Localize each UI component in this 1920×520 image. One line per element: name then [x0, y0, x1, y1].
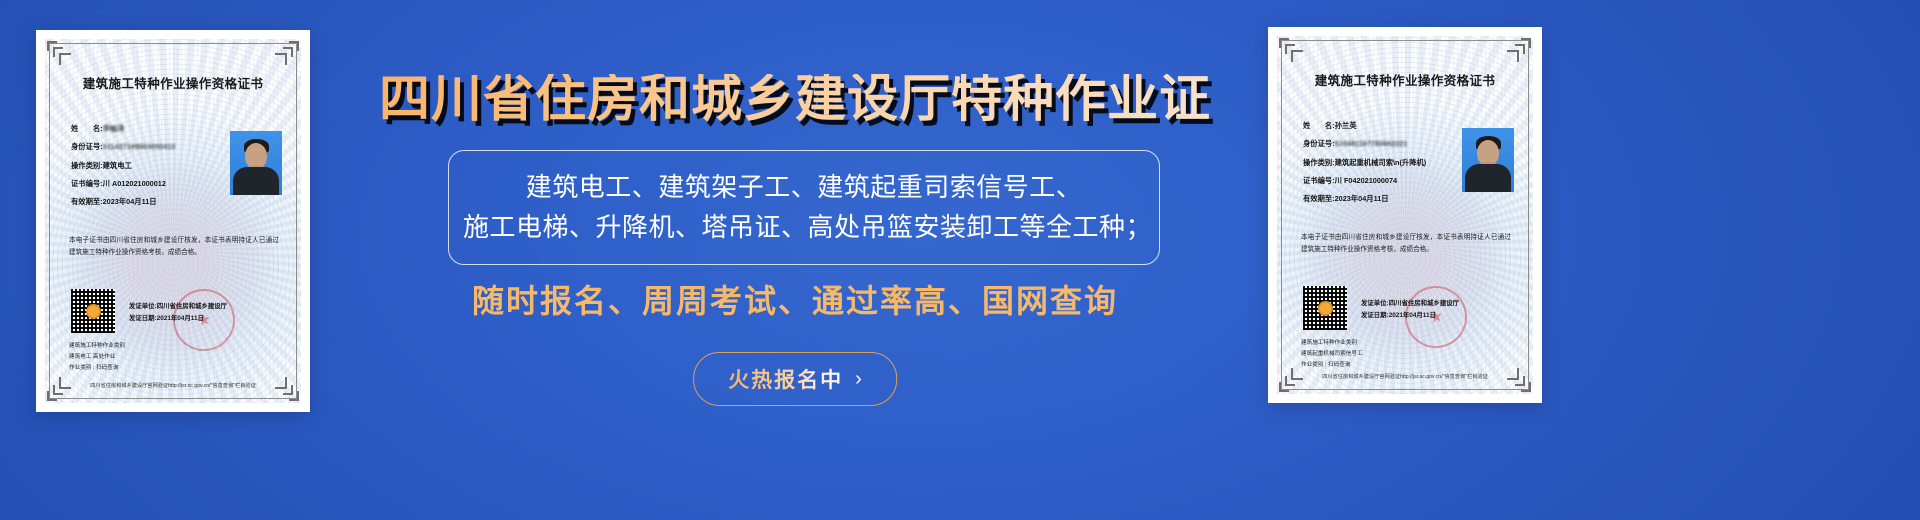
- certificate-field-row: 身份证号: 510481197780662221: [1303, 140, 1455, 147]
- certificate-paragraph: 本电子证书由四川省住房和城乡建设厅核发，本证书表明持证人已通过建筑施工特种作业操…: [69, 235, 279, 259]
- issue-date-label: 发证日期:: [1361, 312, 1389, 319]
- certificate-paragraph: 本电子证书由四川省住房和城乡建设厅核发，本证书表明持证人已通过建筑施工特种作业操…: [1301, 232, 1511, 256]
- field-label: 有效期至:: [1303, 195, 1335, 202]
- certificate-issue-info: 发证单位:四川省住房和城乡建设厅 发证日期:2021年04月11日: [1361, 298, 1481, 322]
- field-label: 操作类别:: [1303, 159, 1335, 166]
- chevron-right-icon: ›: [855, 369, 862, 389]
- certificate-card-right: 建筑施工特种作业操作资格证书 姓 名: 孙兰英 身份证号: 5104811977…: [1268, 27, 1542, 403]
- issue-date-line: 发证日期:2021年04月11日: [1361, 310, 1481, 322]
- scope-box: 建筑电工、建筑架子工、建筑起重司索信号工、 施工电梯、升降机、塔吊证、高处吊篮安…: [448, 150, 1160, 265]
- field-label: 身份证号:: [71, 143, 103, 150]
- field-label: 身份证号:: [1303, 140, 1335, 147]
- field-label: 姓 名:: [71, 125, 103, 132]
- certificate-photo: [230, 131, 282, 195]
- field-value: 2023年04月11日: [103, 198, 157, 205]
- certificate-field-row: 有效期至: 2023年04月11日: [71, 198, 223, 205]
- footer-line: 作业类别 : 扫码查询: [69, 363, 219, 374]
- certificate-photo: [1462, 128, 1514, 192]
- field-label: 证书编号:: [1303, 177, 1335, 184]
- photo-body: [1465, 164, 1511, 192]
- certificate-fields: 姓 名: 孙兰英 身份证号: 510481197780662221 操作类别: …: [1303, 122, 1455, 213]
- field-value: 建筑电工: [103, 162, 132, 169]
- issue-date-line: 发证日期:2021年04月11日: [129, 313, 249, 325]
- issue-date-value: 2021年04月11日: [157, 315, 204, 322]
- footer-line: 建筑起重机械司索信号工: [1301, 349, 1451, 360]
- certificate-guilloche-background: 建筑施工特种作业操作资格证书 姓 名: 李岫泽 身份证号: 5114271999…: [45, 39, 301, 403]
- certificate-field-row: 姓 名: 李岫泽: [71, 125, 223, 132]
- certificate-field-row: 姓 名: 孙兰英: [1303, 122, 1455, 129]
- certificate-footer-notes: 建筑施工特种作业类别 建筑电工 高处作业 作业类别 : 扫码查询: [69, 341, 219, 374]
- certificate-field-row: 操作类别: 建筑电工: [71, 162, 223, 169]
- field-label: 有效期至:: [71, 198, 103, 205]
- field-value: 川 A012021000012: [103, 180, 166, 187]
- issuer-value: 四川省住房和城乡建设厅: [1389, 300, 1459, 307]
- certificate-title: 建筑施工特种作业操作资格证书: [45, 73, 301, 92]
- certificate-verification-note: 四川省住房和城乡建设厅官网验证http://jsr.sc.gov.cn/"信息查…: [1277, 373, 1533, 380]
- certificate-footer-notes: 建筑施工特种作业类别 建筑起重机械司索信号工 作业类别 : 扫码查询: [1301, 338, 1451, 371]
- certificate-field-row: 操作类别: 建筑起重机械司索\n(升降机): [1303, 159, 1455, 166]
- certificate-field-row: 证书编号: 川 F042021000074: [1303, 177, 1455, 184]
- issuer-label: 发证单位:: [1361, 300, 1389, 307]
- promo-banner: 建筑施工特种作业操作资格证书 姓 名: 李岫泽 身份证号: 5114271999…: [0, 0, 1920, 520]
- field-value: 建筑起重机械司索\n(升降机): [1335, 159, 1427, 166]
- certificate-issue-info: 发证单位:四川省住房和城乡建设厅 发证日期:2021年04月11日: [129, 301, 249, 325]
- banner-headline: 四川省住房和城乡建设厅特种作业证: [330, 74, 1260, 125]
- scope-line-2: 施工电梯、升降机、塔吊证、高处吊篮安装卸工等全工种；: [463, 208, 1145, 248]
- field-value: 511427199903050410: [103, 143, 176, 150]
- corner-ornament-icon: [1279, 38, 1305, 64]
- certificate-field-row: 证书编号: 川 A012021000012: [71, 180, 223, 187]
- photo-body: [233, 167, 279, 195]
- certificate-guilloche-background: 建筑施工特种作业操作资格证书 姓 名: 孙兰英 身份证号: 5104811977…: [1277, 36, 1533, 394]
- field-label: 证书编号:: [71, 180, 103, 187]
- certificate-verification-note: 四川省住房和城乡建设厅官网验证http://jsr.sc.gov.cn/"信息查…: [45, 382, 301, 389]
- issue-date-value: 2021年04月11日: [1389, 312, 1436, 319]
- issuer-label: 发证单位:: [129, 303, 157, 310]
- corner-ornament-icon: [47, 41, 73, 67]
- scope-line-1: 建筑电工、建筑架子工、建筑起重司索信号工、: [463, 168, 1145, 208]
- certificate-card-left: 建筑施工特种作业操作资格证书 姓 名: 李岫泽 身份证号: 5114271999…: [36, 30, 310, 412]
- footer-line: 建筑电工 高处作业: [69, 352, 219, 363]
- promo-text: 随时报名、周周考试、通过率高、国网查询: [330, 276, 1260, 322]
- qr-code-icon: [71, 289, 115, 333]
- footer-line: 建筑施工特种作业类别: [69, 341, 219, 352]
- field-label: 姓 名:: [1303, 122, 1335, 129]
- certificate-paragraph-text: 本电子证书由四川省住房和城乡建设厅核发，本证书表明持证人已通过建筑施工特种作业操…: [69, 237, 279, 256]
- issuer-line: 发证单位:四川省住房和城乡建设厅: [1361, 298, 1481, 310]
- issue-date-label: 发证日期:: [129, 315, 157, 322]
- field-value: 李岫泽: [103, 125, 125, 132]
- enroll-now-button[interactable]: 火热报名中 ›: [693, 352, 897, 406]
- issuer-line: 发证单位:四川省住房和城乡建设厅: [129, 301, 249, 313]
- certificate-title: 建筑施工特种作业操作资格证书: [1277, 70, 1533, 89]
- banner-main-content: 四川省住房和城乡建设厅特种作业证 建筑电工、建筑架子工、建筑起重司索信号工、 施…: [330, 0, 1260, 520]
- footer-line: 建筑施工特种作业类别: [1301, 338, 1451, 349]
- corner-ornament-icon: [1505, 38, 1531, 64]
- field-value: 510481197780662221: [1335, 140, 1408, 147]
- footer-line: 作业类别 : 扫码查询: [1301, 360, 1451, 371]
- certificate-field-row: 有效期至: 2023年04月11日: [1303, 195, 1455, 202]
- field-value: 孙兰英: [1335, 122, 1357, 129]
- issuer-value: 四川省住房和城乡建设厅: [157, 303, 227, 310]
- certificate-field-row: 身份证号: 511427199903050410: [71, 143, 223, 150]
- certificate-paragraph-text: 本电子证书由四川省住房和城乡建设厅核发，本证书表明持证人已通过建筑施工特种作业操…: [1301, 234, 1511, 253]
- field-value: 川 F042021000074: [1335, 177, 1397, 184]
- field-value: 2023年04月11日: [1335, 195, 1389, 202]
- qr-code-icon: [1303, 286, 1347, 330]
- field-label: 操作类别:: [71, 162, 103, 169]
- certificate-fields: 姓 名: 李岫泽 身份证号: 511427199903050410 操作类别: …: [71, 125, 223, 216]
- corner-ornament-icon: [273, 41, 299, 67]
- enroll-now-label: 火热报名中: [728, 364, 843, 394]
